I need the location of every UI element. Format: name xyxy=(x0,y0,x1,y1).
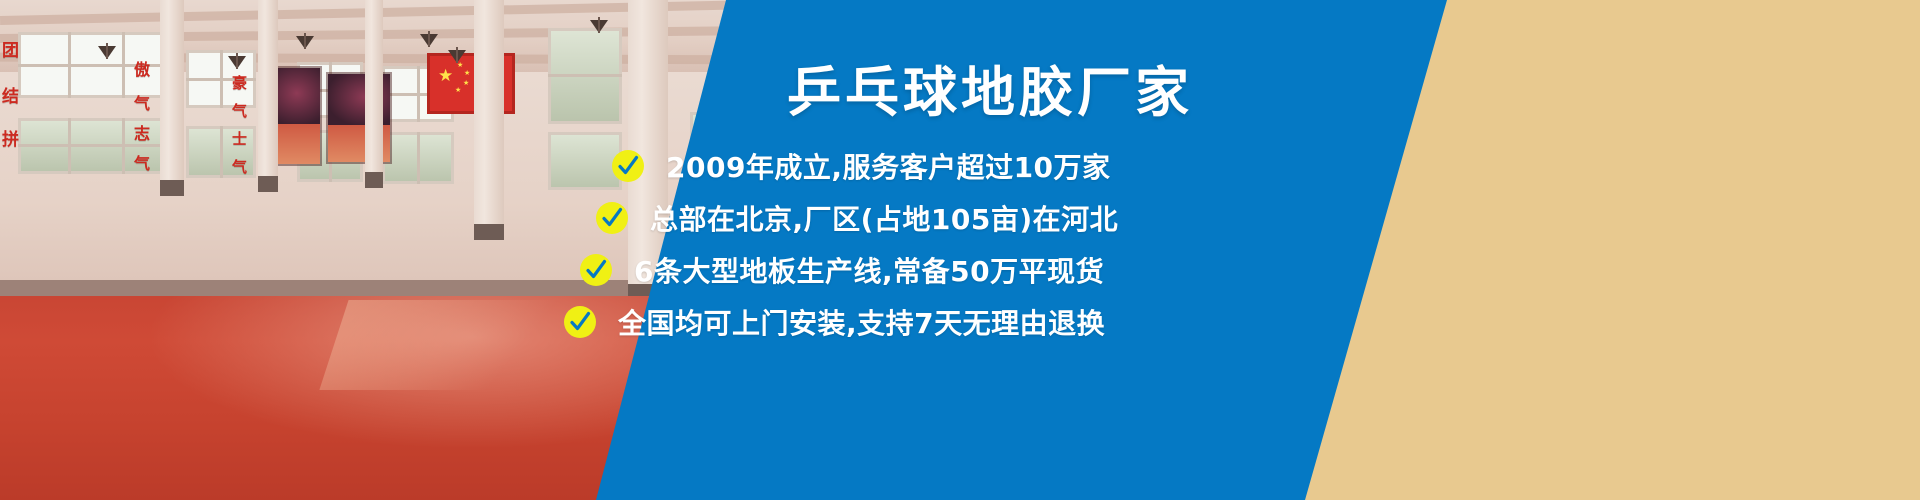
wall-slogan-char: 气 xyxy=(134,150,150,174)
wall-slogan-char: 气 xyxy=(232,100,247,121)
ceiling-lamp xyxy=(228,56,246,69)
check-circle-icon xyxy=(564,306,596,338)
flag-star-large: ★ xyxy=(438,67,453,84)
hall-column xyxy=(474,0,504,240)
wall-slogan-char: 拼 xyxy=(2,125,19,150)
check-circle-icon xyxy=(596,202,628,234)
ceiling-lamp xyxy=(98,46,116,59)
ceiling-lamp xyxy=(448,50,466,63)
wall-slogan-char: 豪 xyxy=(232,72,247,93)
list-item: 6条大型地板生产线,常备50万平现货 xyxy=(580,244,1320,296)
flag-star-small: ★ xyxy=(464,70,470,77)
wall-slogan-char: 团 xyxy=(2,36,19,61)
ceiling-lamp xyxy=(590,20,608,33)
column-base xyxy=(258,176,278,192)
flag-star-small: ★ xyxy=(455,87,461,94)
check-circle-icon xyxy=(580,254,612,286)
ceiling-lamp xyxy=(420,34,438,47)
column-base xyxy=(160,180,184,196)
window-lower xyxy=(548,28,622,124)
wall-slogan-char: 结 xyxy=(2,82,19,107)
column-base xyxy=(474,224,504,240)
ceiling-lamp xyxy=(296,36,314,49)
check-circle-icon xyxy=(612,150,644,182)
flag-star-small: ★ xyxy=(463,80,469,87)
wall-slogan-char: 气 xyxy=(134,90,150,114)
flag-star-small: ★ xyxy=(457,62,463,69)
feature-list: 2009年成立,服务客户超过10万家 总部在北京,厂区(占地105亩)在河北 6… xyxy=(560,140,1320,348)
list-item-label: 总部在北京,厂区(占地105亩)在河北 xyxy=(650,198,1118,238)
promo-banner: 团 结 拼 傲 气 志 气 豪 气 士 气 ★ ★ ★ ★ ★ xyxy=(0,0,1920,500)
page-title: 乒乓球地胶厂家 xyxy=(680,66,1300,120)
list-item-label: 2009年成立,服务客户超过10万家 xyxy=(666,146,1111,186)
hall-column xyxy=(258,0,278,192)
window-lower xyxy=(382,132,454,184)
hall-column xyxy=(160,0,184,196)
list-item: 总部在北京,厂区(占地105亩)在河北 xyxy=(596,192,1320,244)
wall-slogan-char: 志 xyxy=(134,120,150,144)
wall-slogan-char: 气 xyxy=(232,156,247,177)
hall-column xyxy=(365,0,383,188)
list-item: 2009年成立,服务客户超过10万家 xyxy=(612,140,1320,192)
list-item-label: 6条大型地板生产线,常备50万平现货 xyxy=(634,250,1104,290)
wall-slogan-char: 傲 xyxy=(134,56,150,80)
wall-slogan-char: 士 xyxy=(232,128,247,149)
list-item: 全国均可上门安装,支持7天无理由退换 xyxy=(564,296,1320,348)
column-base xyxy=(365,172,383,188)
list-item-label: 全国均可上门安装,支持7天无理由退换 xyxy=(618,302,1105,342)
